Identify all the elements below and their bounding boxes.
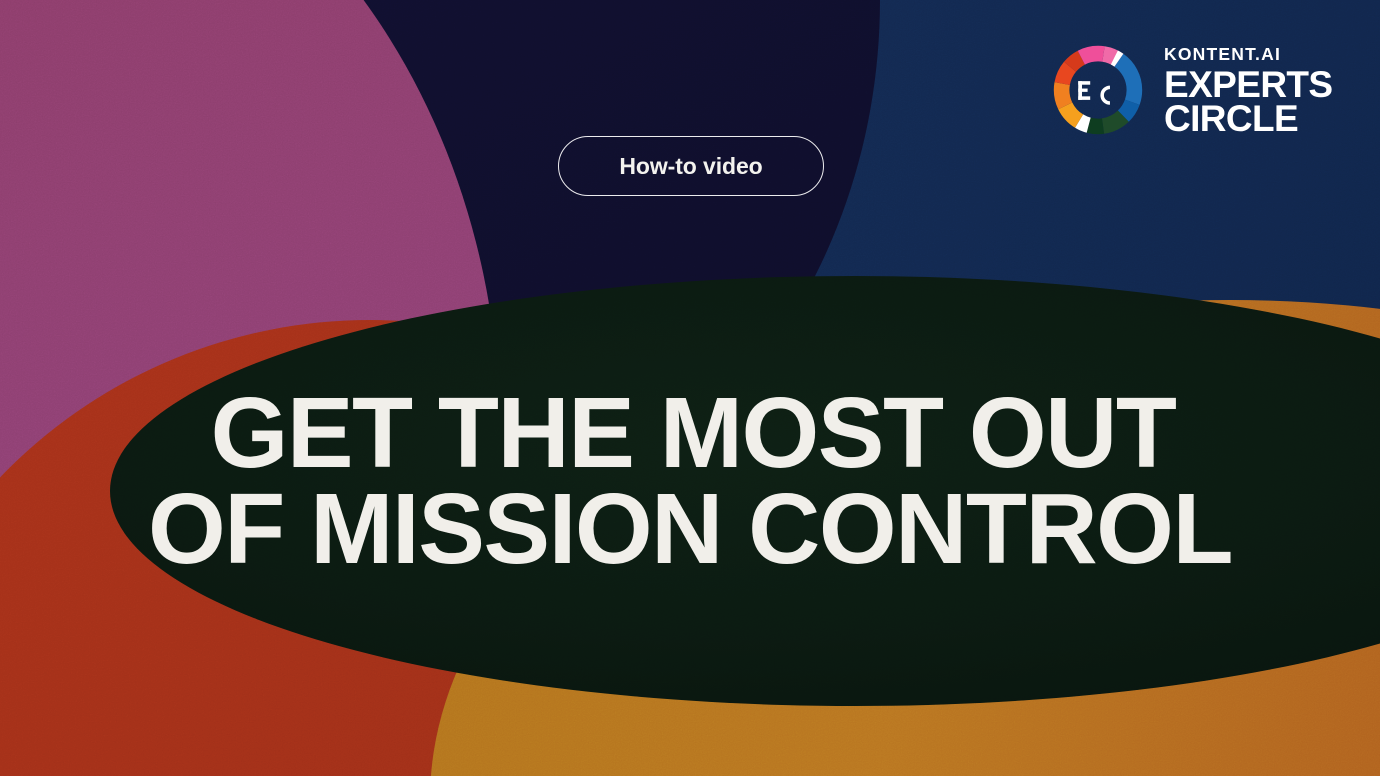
kontent-ai-brand: KONTENT.AI <box>1164 46 1333 64</box>
wordmark-line-experts: EXPERTS <box>1164 68 1333 102</box>
headline-line-1: GET THE MOST OUT <box>0 385 1380 481</box>
page-title: GET THE MOST OUT OF MISSION CONTROL <box>0 385 1380 577</box>
how-to-video-pill-button[interactable]: How-to video <box>558 136 824 196</box>
wordmark-line-circle: CIRCLE <box>1164 102 1333 136</box>
logo-wordmark: KONTENT.AI EXPERTS CIRCLE <box>1164 44 1333 136</box>
banner-content: How-to video GET THE MOST OUT OF MISSION… <box>0 0 1380 776</box>
headline-line-2: OF MISSION CONTROL <box>0 481 1380 577</box>
how-to-video-label: How-to video <box>619 153 762 180</box>
experts-circle-logo-lockup[interactable]: KONTENT.AI EXPERTS CIRCLE <box>1046 38 1333 142</box>
experts-circle-ring-icon <box>1046 38 1150 142</box>
experts-circle-wordmark: EXPERTS CIRCLE <box>1164 68 1333 136</box>
banner-canvas: How-to video GET THE MOST OUT OF MISSION… <box>0 0 1380 776</box>
